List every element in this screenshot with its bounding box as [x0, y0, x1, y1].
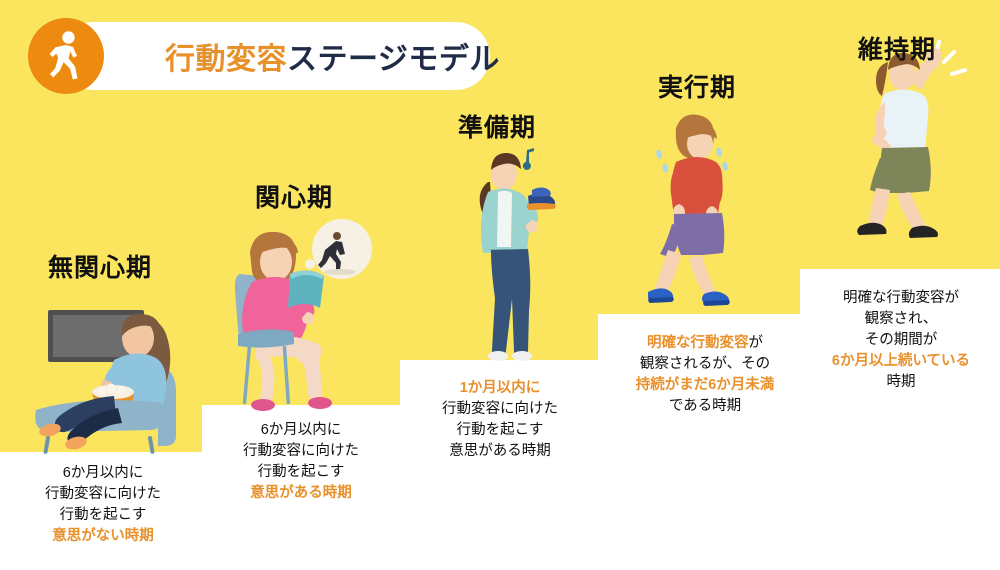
illustration-woman-watching-tv-on-sofa	[18, 288, 208, 456]
desc-line: その期間が	[805, 330, 997, 351]
stage-desc-contemplation: 6か月以内に 行動変容に向けた 行動を起こす 意思がある時期	[208, 420, 394, 504]
stage-desc-maintenance: 明確な行動変容が 観察され、 その期間が 6か月以上続いている 時期	[805, 288, 997, 393]
illustration-woman-celebrating-arms-raised	[848, 40, 978, 272]
desc-line: である時期	[605, 396, 805, 417]
desc-line-accent: 1か月以内に	[405, 378, 595, 399]
desc-line: 行動を起こす	[405, 420, 595, 441]
desc-segment-accent: 明確な行動変容	[647, 335, 749, 351]
title-rest: ステージモデル	[287, 43, 500, 76]
illustration-woman-walking-sweating	[648, 108, 764, 320]
desc-line-mixed: 明確な行動変容が	[605, 333, 805, 354]
title-highlight: 行動変容	[165, 43, 287, 76]
desc-line-accent: 意思がない時期	[10, 526, 196, 547]
desc-line: 観察され、	[805, 309, 997, 330]
stage-desc-action: 明確な行動変容が 観察されるが、その 持続がまだ6か月未満 である時期	[605, 333, 805, 417]
title-pill: 行動変容ステージモデル	[60, 22, 490, 90]
desc-line: 明確な行動変容が	[805, 288, 997, 309]
desc-line: 行動変容に向けた	[10, 484, 196, 505]
desc-line: 行動を起こす	[208, 462, 394, 483]
illustration-woman-holding-running-shoes	[462, 140, 572, 362]
stage-label-preparation: 準備期	[458, 108, 536, 144]
desc-line-accent: 持続がまだ6か月未満	[605, 375, 805, 396]
desc-line: 意思がある時期	[405, 441, 595, 462]
stage-label-contemplation: 関心期	[255, 178, 333, 214]
desc-line-accent: 6か月以上続いている	[805, 351, 997, 372]
stage-label-maintenance: 維持期	[858, 30, 936, 66]
desc-line: 行動を起こす	[10, 505, 196, 526]
desc-segment-plain: が	[749, 335, 764, 351]
desc-line: 観察されるが、その	[605, 354, 805, 375]
desc-line: 行動変容に向けた	[405, 399, 595, 420]
desc-line: 行動変容に向けた	[208, 441, 394, 462]
baseline-strip	[0, 562, 1000, 570]
walking-person-icon	[28, 18, 104, 94]
desc-line: 6か月以内に	[10, 463, 196, 484]
desc-line: 6か月以内に	[208, 420, 394, 441]
desc-line: 時期	[805, 372, 997, 393]
stage-desc-precontemplation: 6か月以内に 行動変容に向けた 行動を起こす 意思がない時期	[10, 463, 196, 547]
stage-label-precontemplation: 無関心期	[48, 248, 152, 284]
infographic-canvas: 行動変容ステージモデル 無関心期	[0, 0, 1000, 570]
desc-line-accent: 意思がある時期	[208, 483, 394, 504]
stage-desc-preparation: 1か月以内に 行動変容に向けた 行動を起こす 意思がある時期	[405, 378, 595, 462]
illustration-woman-reading-book-with-thought-bubble	[232, 216, 392, 412]
stage-label-action: 実行期	[658, 68, 736, 104]
page-title: 行動変容ステージモデル	[165, 34, 500, 78]
